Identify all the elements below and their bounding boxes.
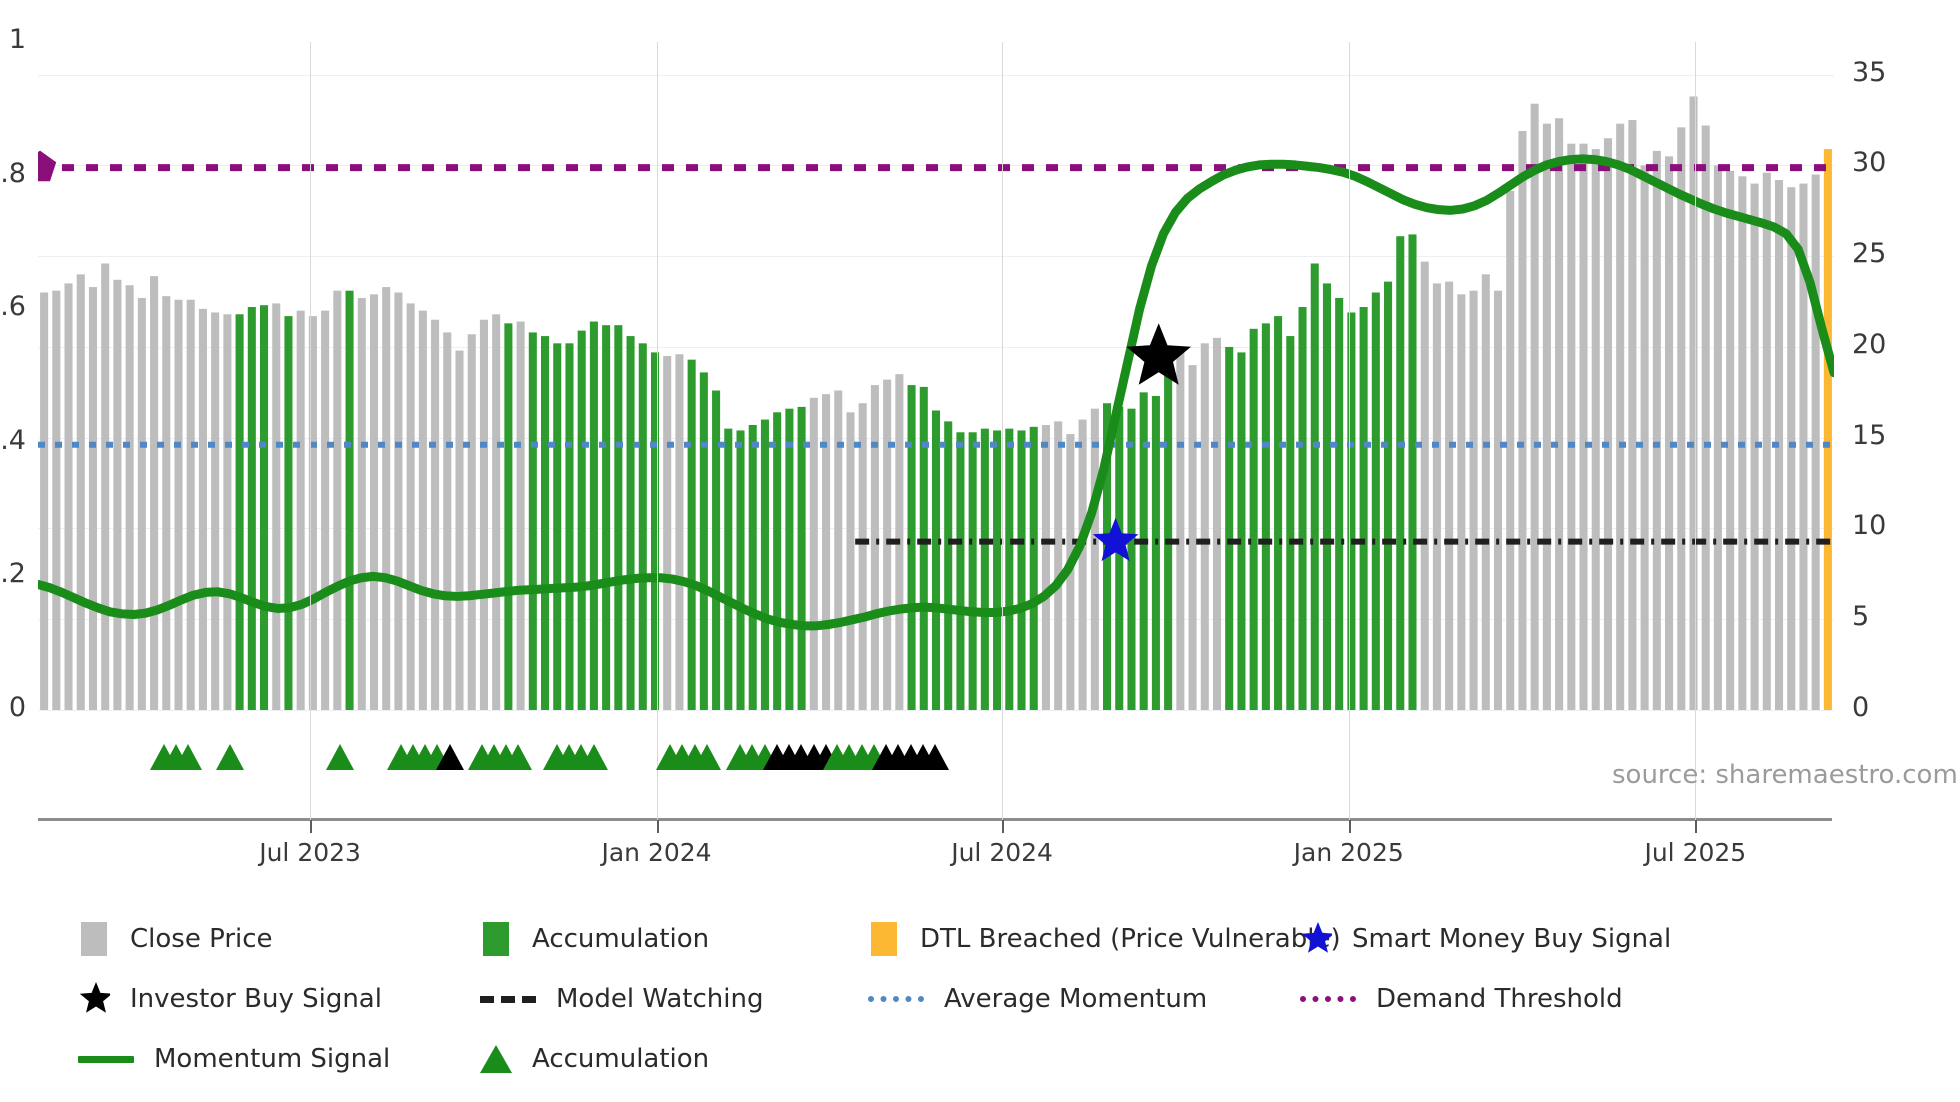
bar-close-price: [89, 287, 97, 710]
bar-accumulation: [1152, 396, 1160, 710]
bar-accumulation: [1017, 430, 1025, 710]
x-axis-line: [38, 818, 1832, 821]
y-axis-right-tick: 10: [1852, 510, 1912, 541]
bar-close-price: [846, 412, 854, 710]
bar-close-price: [1641, 165, 1649, 710]
bar-accumulation: [541, 336, 549, 710]
accumulation-marker-green: [580, 744, 608, 770]
bar-close-price: [1213, 338, 1221, 710]
bar-close-price: [187, 300, 195, 710]
bar-close-price: [321, 311, 329, 710]
bar-close-price: [211, 312, 219, 710]
legend-label: Smart Money Buy Signal: [1352, 924, 1671, 954]
bar-close-price: [358, 298, 366, 710]
bar-close-price: [113, 280, 121, 710]
legend-label: Momentum Signal: [154, 1044, 390, 1074]
bar-accumulation: [920, 387, 928, 710]
legend-label: Model Watching: [556, 984, 763, 1014]
bar-close-price: [1677, 127, 1685, 710]
y-axis-right-tick: 15: [1852, 420, 1912, 451]
chart-root: 00.20.40.60.81 05101520253035 Jul 2023Ja…: [0, 0, 1960, 1102]
chart-legend: Close PriceAccumulationDTL Breached (Pri…: [78, 920, 1938, 1100]
y-axis-left-tick: 0.8: [0, 158, 26, 189]
bar-accumulation: [1286, 336, 1294, 710]
bar-close-price: [1494, 291, 1502, 710]
legend-marker: [480, 1045, 512, 1073]
bar-close-price: [333, 291, 341, 710]
bar-accumulation: [1396, 236, 1404, 710]
accumulation-marker-green: [504, 744, 532, 770]
bar-accumulation: [798, 407, 806, 710]
bar-close-price: [517, 322, 525, 710]
legend-marker: [868, 996, 924, 1002]
accumulation-marker-green: [216, 744, 244, 770]
legend-label: Accumulation: [532, 1044, 709, 1074]
x-axis-gridline: [1002, 42, 1003, 820]
bar-close-price: [407, 303, 415, 710]
accumulation-marker-green: [326, 744, 354, 770]
bar-accumulation: [346, 291, 354, 710]
bar-accumulation: [529, 332, 537, 710]
x-axis-gridline: [1349, 42, 1350, 820]
bar-accumulation: [761, 420, 769, 710]
bar-close-price: [272, 303, 280, 710]
legend-model-watching[interactable]: Model Watching: [480, 980, 763, 1018]
bar-close-price: [1787, 187, 1795, 710]
bar-accumulation: [688, 360, 696, 710]
bar-close-price: [443, 332, 451, 710]
x-axis-label: Jan 2024: [547, 838, 767, 867]
bar-accumulation: [236, 314, 244, 710]
bar-accumulation: [553, 343, 561, 710]
bar-close-price: [1189, 365, 1197, 710]
accumulation-marker-green: [693, 744, 721, 770]
bar-close-price: [419, 311, 427, 710]
legend-marker: [1300, 921, 1332, 957]
bar-accumulation: [993, 430, 1001, 710]
bar-accumulation: [1237, 352, 1245, 710]
bar-accumulation: [639, 343, 647, 710]
bar-accumulation: [785, 409, 793, 710]
bar-accumulation: [651, 352, 659, 710]
bar-close-price: [223, 314, 231, 710]
bar-close-price: [1616, 124, 1624, 710]
bar-close-price: [1543, 124, 1551, 710]
legend-swatch-dashed-line: [480, 996, 536, 1003]
y-axis-left-tick: 0.4: [0, 425, 26, 456]
bar-accumulation: [1384, 282, 1392, 710]
legend-swatch-star: [1300, 921, 1332, 957]
legend-label: DTL Breached (Price Vulnerable): [920, 924, 1341, 954]
bar-close-price: [1421, 262, 1429, 710]
bar-close-price: [675, 354, 683, 710]
y-axis-right-tick: 0: [1852, 692, 1912, 723]
x-axis-label: Jul 2024: [892, 838, 1112, 867]
bar-accumulation: [1005, 429, 1013, 710]
x-axis-tick: [1695, 820, 1697, 833]
legend-swatch-rect: [871, 922, 897, 956]
legend-accumulation-triangle[interactable]: Accumulation: [480, 1040, 709, 1078]
bar-close-price: [1714, 165, 1722, 710]
bar-accumulation: [773, 412, 781, 710]
legend-average-momentum[interactable]: Average Momentum: [868, 980, 1207, 1018]
legend-marker: [78, 1056, 134, 1063]
bar-close-price: [1470, 291, 1478, 710]
legend-dtl-breached[interactable]: DTL Breached (Price Vulnerable): [868, 920, 1341, 958]
y-axis-left-tick: 0.2: [0, 558, 26, 589]
bar-close-price: [52, 291, 60, 710]
bar-close-price: [382, 287, 390, 710]
bar-close-price: [1079, 420, 1087, 710]
accumulation-marker-black: [436, 744, 464, 770]
bar-accumulation: [1311, 263, 1319, 710]
bar-close-price: [1506, 191, 1514, 710]
legend-swatch-rect: [81, 922, 107, 956]
bar-close-price: [1433, 283, 1441, 710]
bar-close-price: [431, 320, 439, 710]
legend-label: Demand Threshold: [1376, 984, 1623, 1014]
bar-close-price: [1482, 274, 1490, 710]
bar-close-price: [859, 403, 867, 710]
legend-swatch-dotted-line: [1300, 996, 1356, 1002]
bar-close-price: [174, 300, 182, 710]
x-axis-gridline: [310, 42, 311, 820]
bar-accumulation: [1262, 323, 1270, 710]
bar-close-price: [126, 285, 134, 710]
plot-content: [38, 42, 1834, 710]
bar-close-price: [1445, 282, 1453, 710]
bar-close-price: [65, 283, 73, 710]
legend-marker: [868, 922, 900, 956]
bar-close-price: [138, 298, 146, 710]
bar-accumulation: [736, 430, 744, 710]
x-axis-tick: [657, 820, 659, 833]
bar-accumulation: [1372, 293, 1380, 711]
bar-accumulation: [932, 410, 940, 710]
legend-smart-money-buy-signal[interactable]: Smart Money Buy Signal: [1300, 920, 1671, 958]
bar-accumulation: [712, 391, 720, 710]
legend-swatch-triangle: [480, 1045, 512, 1073]
bar-accumulation: [1274, 316, 1282, 710]
legend-marker: [480, 922, 512, 956]
bar-accumulation: [908, 385, 916, 710]
bar-close-price: [1457, 294, 1465, 710]
accumulation-marker-green: [174, 744, 202, 770]
bar-close-price: [1091, 409, 1099, 710]
legend-swatch-dotted-line: [868, 996, 924, 1002]
bar-close-price: [101, 263, 109, 710]
y-axis-left-tick: 0: [0, 692, 26, 723]
y-axis-right-tick: 30: [1852, 147, 1912, 178]
legend-marker: [1300, 996, 1356, 1002]
chart-svg: [38, 42, 1834, 710]
bar-close-price: [822, 394, 830, 710]
bar-close-price: [1763, 173, 1771, 710]
bar-accumulation: [1250, 329, 1258, 710]
bar-accumulation: [1299, 307, 1307, 710]
bar-accumulation: [590, 322, 598, 710]
x-axis-tick: [1349, 820, 1351, 833]
bar-close-price: [834, 391, 842, 710]
x-axis-label: Jul 2025: [1585, 838, 1805, 867]
x-axis-gridline: [1695, 42, 1696, 820]
legend-label: Accumulation: [532, 924, 709, 954]
bar-accumulation: [1408, 234, 1416, 710]
bar-close-price: [871, 385, 879, 710]
plot-area: [38, 42, 1834, 710]
bar-close-price: [394, 293, 402, 711]
bar-accumulation: [724, 429, 732, 710]
bar-close-price: [1628, 120, 1636, 710]
bar-dtl-breached: [1824, 149, 1832, 710]
bar-close-price: [40, 293, 48, 711]
bar-accumulation: [944, 421, 952, 710]
bar-accumulation: [1030, 427, 1038, 710]
y-axis-right-tick: 20: [1852, 329, 1912, 360]
bar-accumulation: [749, 425, 757, 710]
legend-label: Close Price: [130, 924, 273, 954]
demand-threshold-start-marker: [38, 151, 56, 182]
bar-accumulation: [956, 432, 964, 710]
bar-accumulation: [1323, 283, 1331, 710]
bar-close-price: [455, 351, 463, 710]
legend-label: Average Momentum: [944, 984, 1207, 1014]
bar-accumulation: [578, 331, 586, 710]
legend-row: Investor Buy SignalModel WatchingAverage…: [78, 980, 1938, 1018]
bar-close-price: [297, 311, 305, 710]
bar-close-price: [1604, 138, 1612, 710]
bar-close-price: [77, 274, 85, 710]
bar-accumulation: [602, 325, 610, 710]
legend-investor-buy-signal[interactable]: Investor Buy Signal: [78, 980, 382, 1018]
bar-close-price: [1042, 425, 1050, 710]
bar-close-price: [1653, 151, 1661, 710]
bar-accumulation: [1225, 347, 1233, 710]
bar-accumulation: [260, 305, 268, 710]
bar-close-price: [199, 309, 207, 710]
legend-swatch-rect: [483, 922, 509, 956]
legend-swatch-line: [78, 1056, 134, 1063]
x-axis-gridline: [657, 42, 658, 820]
legend-marker: [78, 922, 110, 956]
bar-accumulation: [565, 343, 573, 710]
bar-close-price: [1592, 149, 1600, 710]
legend-swatch-star: [78, 981, 110, 1017]
x-axis-label: Jan 2025: [1239, 838, 1459, 867]
bar-accumulation: [1140, 392, 1148, 710]
bar-accumulation: [1335, 298, 1343, 710]
x-axis-tick: [310, 820, 312, 833]
bar-close-price: [370, 294, 378, 710]
bar-close-price: [468, 334, 476, 710]
bar-close-price: [492, 314, 500, 710]
y-axis-right-tick: 25: [1852, 238, 1912, 269]
legend-label: Investor Buy Signal: [130, 984, 382, 1014]
y-axis-right-tick: 35: [1852, 57, 1912, 88]
bar-accumulation: [700, 372, 708, 710]
bar-close-price: [1726, 171, 1734, 710]
bar-close-price: [1555, 118, 1563, 710]
gridline: [38, 710, 1834, 711]
bar-accumulation: [504, 323, 512, 710]
bar-accumulation: [1115, 407, 1123, 710]
bar-close-price: [1665, 156, 1673, 710]
bar-accumulation: [614, 325, 622, 710]
source-attribution: source: sharemaestro.com: [1612, 760, 1958, 790]
bar-close-price: [663, 356, 671, 710]
bar-close-price: [1531, 104, 1539, 710]
bar-close-price: [150, 276, 158, 710]
bar-accumulation: [627, 336, 635, 710]
bar-close-price: [1702, 126, 1710, 711]
legend-momentum-signal[interactable]: Momentum Signal: [78, 1040, 390, 1078]
bar-close-price: [1054, 421, 1062, 710]
bar-accumulation: [284, 316, 292, 710]
bar-close-price: [1567, 144, 1575, 710]
legend-row: Close PriceAccumulationDTL Breached (Pri…: [78, 920, 1938, 958]
bar-close-price: [162, 296, 170, 710]
legend-demand-threshold[interactable]: Demand Threshold: [1300, 980, 1623, 1018]
bar-accumulation: [248, 307, 256, 710]
x-axis-label: Jul 2023: [200, 838, 420, 867]
y-axis-right-tick: 5: [1852, 601, 1912, 632]
x-axis-tick: [1002, 820, 1004, 833]
bar-close-price: [810, 398, 818, 710]
bar-close-price: [1518, 131, 1526, 710]
legend-close-price[interactable]: Close Price: [78, 920, 273, 958]
y-axis-left-tick: 0.6: [0, 291, 26, 322]
legend-row: Momentum SignalAccumulation: [78, 1040, 1938, 1078]
bar-close-price: [1176, 351, 1184, 710]
bar-accumulation: [969, 432, 977, 710]
accumulation-marker-black: [921, 744, 949, 770]
legend-marker: [78, 981, 110, 1017]
bar-accumulation: [1360, 307, 1368, 710]
legend-marker: [480, 996, 536, 1003]
y-axis-left-tick: 1: [0, 24, 26, 55]
bar-close-price: [1201, 343, 1209, 710]
legend-accumulation-bar[interactable]: Accumulation: [480, 920, 709, 958]
bar-close-price: [1580, 144, 1588, 710]
bar-accumulation: [981, 429, 989, 710]
bar-close-price: [883, 380, 891, 710]
bar-close-price: [480, 320, 488, 710]
